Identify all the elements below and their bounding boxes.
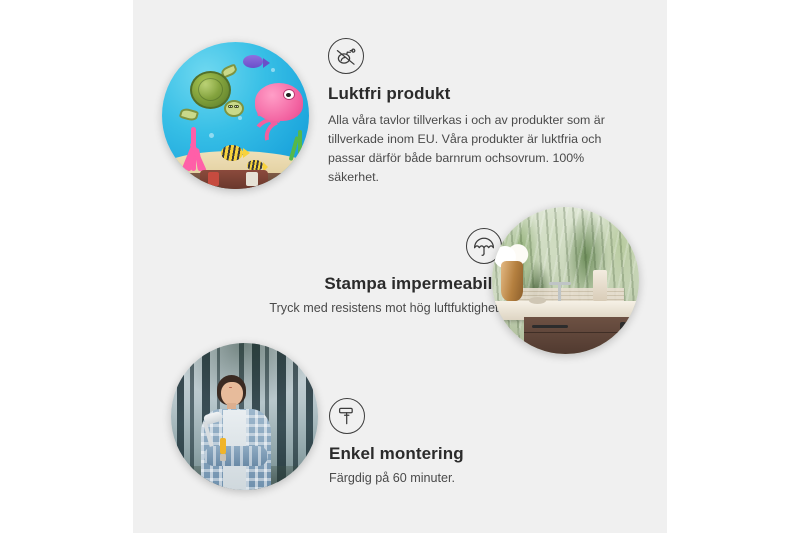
decorator-person: [197, 375, 273, 490]
coral-icon: [174, 127, 218, 171]
feature-waterproof-icon-wrap: [225, 228, 502, 274]
feature-easy-mount-title: Enkel montering: [329, 444, 609, 464]
product-image-forest[interactable]: [171, 343, 318, 490]
paint-brush-icon: [220, 438, 225, 454]
feature-waterproof-title: Stampa impermeabile: [225, 274, 502, 294]
content-panel: Luktfri produkt Alla våra tavlor tillver…: [133, 0, 667, 533]
no-odour-spray-bottle-icon: [328, 38, 364, 74]
aquarium-artwork: [162, 42, 309, 189]
seaweed-icon: [298, 130, 302, 168]
feature-waterproof: Stampa impermeabile Tryck med resistens …: [225, 228, 502, 318]
feature-odourless: Luktfri produkt Alla våra tavlor tillver…: [328, 38, 628, 186]
feature-odourless-body: Alla våra tavlor tillverkas i och av pro…: [328, 111, 628, 186]
feature-odourless-icon-wrap: [328, 38, 628, 74]
turtle-icon: [183, 68, 242, 121]
crossed-arms: [204, 446, 268, 465]
drawer-divider: [524, 332, 639, 333]
feature-easy-mount: Enkel montering Färgdig på 60 minuter.: [329, 398, 609, 488]
feature-waterproof-body: Tryck med resistens mot hög luftfuktighe…: [225, 299, 502, 318]
paint-roller-icon: [329, 398, 365, 434]
product-image-bathroom[interactable]: [492, 207, 639, 354]
faucet-icon: [558, 282, 561, 301]
soap-bottle-icon: [593, 270, 606, 301]
screenshot-canvas: Luktfri produkt Alla våra tavlor tillver…: [0, 0, 800, 533]
yellow-fish-icon: [221, 145, 243, 161]
purple-fish-icon: [243, 55, 264, 68]
vanity-cabinet: [524, 317, 639, 354]
product-image-aquarium[interactable]: [162, 42, 309, 189]
smile: [229, 387, 232, 388]
feature-easy-mount-body: Färgdig på 60 minuter.: [329, 469, 609, 488]
vase-icon: [501, 261, 523, 301]
forest-artwork: [171, 343, 318, 490]
bathroom-artwork: [492, 207, 639, 354]
feature-odourless-title: Luktfri produkt: [328, 84, 628, 104]
feature-easy-mount-icon-wrap: [329, 398, 609, 434]
shipwreck-icon: [200, 170, 268, 189]
